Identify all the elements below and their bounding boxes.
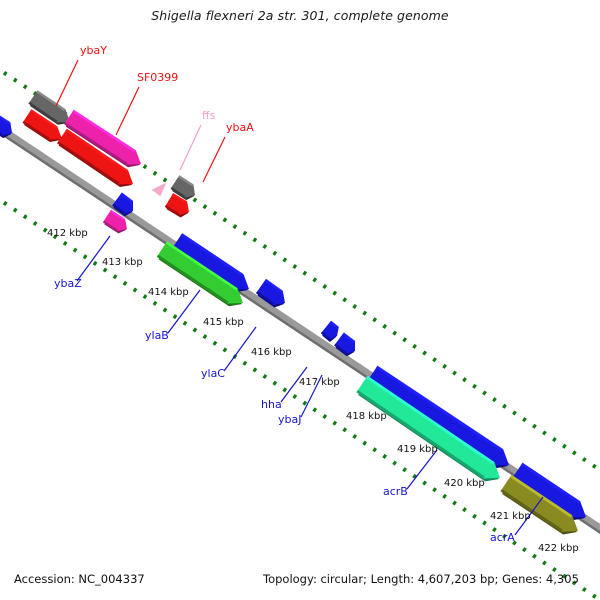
axis-tick-label-0: 412 kbp (47, 228, 88, 239)
axis-tick-label-3: 415 kbp (203, 317, 244, 328)
ncrna-triangle (152, 178, 169, 196)
gene-label-ybaZ[interactable]: ybaZ (54, 277, 82, 290)
axis-tick-label-8: 420 kbp (444, 478, 485, 489)
axis-tick-label-7: 419 kbp (397, 444, 438, 455)
leader-line-ybaA (203, 137, 225, 182)
backbone-layer (0, 121, 600, 537)
axis-tick-label-6: 418 kbp (346, 411, 387, 422)
gene-label-acrA[interactable]: acrA (490, 531, 515, 544)
genome-map-viewer: Shigella flexneri 2a str. 301, complete … (0, 0, 600, 600)
gene-body (367, 366, 515, 474)
gene-label-ylaC[interactable]: ylaC (201, 367, 225, 380)
axis-tick-label-9: 421 kbp (490, 511, 531, 522)
gene-label-ybaJ[interactable]: ybaJ (278, 413, 301, 426)
axis-tick-label-10: 422 kbp (538, 543, 579, 554)
leader-line-ybaY (56, 60, 78, 106)
accession-text: Accession: NC_004337 (14, 572, 145, 586)
gene-label-ffs[interactable]: ffs (202, 109, 216, 122)
leader-line-ffs (180, 125, 201, 170)
gene-label-ybaY[interactable]: ybaY (80, 44, 107, 57)
gene-feature-acrB-blue[interactable] (366, 366, 515, 475)
axis-tick-label-1: 413 kbp (102, 257, 143, 268)
axis-tick-label-2: 414 kbp (148, 287, 189, 298)
gene-label-acrB[interactable]: acrB (383, 485, 408, 498)
gene-features-layer (0, 90, 592, 540)
gene-feature-ffs-ncRNA[interactable] (152, 178, 169, 196)
leader-line-acrB (407, 450, 437, 489)
genome-summary-text: Topology: circular; Length: 4,607,203 bp… (263, 572, 579, 586)
gene-label-hha[interactable]: hha (261, 398, 282, 411)
axis-tick-label-4: 416 kbp (251, 347, 292, 358)
leader-line-SF0399 (116, 87, 139, 135)
gene-label-SF0399[interactable]: SF0399 (137, 71, 178, 84)
gene-label-ybaA[interactable]: ybaA (226, 121, 254, 134)
genome-map-canvas: 412 kbp413 kbp414 kbp415 kbp416 kbp417 k… (0, 0, 600, 600)
gene-label-ylaB[interactable]: ylaB (145, 329, 169, 342)
axis-tick-labels: 412 kbp413 kbp414 kbp415 kbp416 kbp417 k… (47, 228, 579, 554)
axis-tick-label-5: 417 kbp (299, 377, 340, 388)
